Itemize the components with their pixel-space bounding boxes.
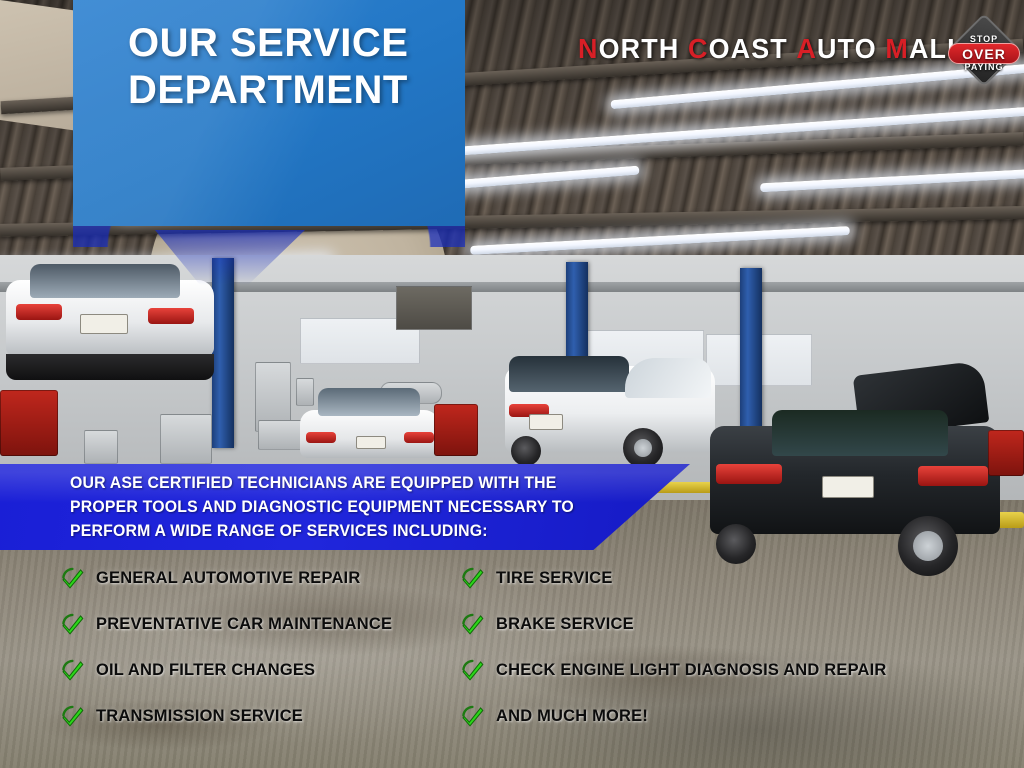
badge-middle-text: OVER: [962, 46, 1006, 62]
logo-word-3: AUTO: [796, 33, 876, 64]
car-dark-sedan: [706, 368, 1018, 578]
badge-bottom-text: PAYING: [946, 62, 1022, 72]
list-item[interactable]: OIL AND FILTER CHANGES: [60, 647, 470, 693]
car-white-sedan: [300, 388, 440, 464]
stop-over-paying-badge[interactable]: STOP OVER PAYING: [946, 24, 1022, 80]
tool-cabinet: [0, 390, 58, 456]
list-item[interactable]: BRAKE SERVICE: [460, 601, 1020, 647]
brand-logo-text: NORTH COAST AUTO MALL: [578, 35, 965, 63]
tool-cabinet: [988, 430, 1024, 476]
wall-cabinet: [258, 420, 302, 450]
services-column-right: TIRE SERVICE BRAKE SERVICE CHECK ENGINE …: [460, 555, 1020, 739]
list-item-label: OIL AND FILTER CHANGES: [96, 660, 315, 680]
list-item[interactable]: CHECK ENGINE LIGHT DIAGNOSIS AND REPAIR: [460, 647, 1020, 693]
green-check-icon: [460, 658, 484, 682]
service-department-banner: OUR SERVICE DEPARTMENT NORTH COAST AUTO …: [0, 0, 1024, 768]
list-item-label: TIRE SERVICE: [496, 568, 613, 588]
wall-vent: [396, 286, 472, 330]
car-white-suv: [505, 350, 730, 476]
logo-word-2: COAST: [688, 33, 788, 64]
list-item[interactable]: GENERAL AUTOMOTIVE REPAIR: [60, 555, 470, 601]
list-item-label: PREVENTATIVE CAR MAINTENANCE: [96, 614, 392, 634]
list-item[interactable]: PREVENTATIVE CAR MAINTENANCE: [60, 601, 470, 647]
page-title-line-2: DEPARTMENT: [128, 67, 458, 114]
page-title-line-1: OUR SERVICE: [128, 20, 458, 67]
green-check-icon: [460, 566, 484, 590]
tool-cabinet: [434, 404, 478, 456]
parts-bin: [160, 414, 212, 464]
green-check-icon: [60, 658, 84, 682]
brand-logo[interactable]: NORTH COAST AUTO MALL: [570, 28, 973, 70]
list-item[interactable]: AND MUCH MORE!: [460, 693, 1020, 739]
green-check-icon: [460, 612, 484, 636]
parts-bin: [84, 430, 118, 464]
badge-oval-shape: OVER: [948, 43, 1020, 64]
list-item-label: TRANSMISSION SERVICE: [96, 706, 303, 726]
page-title: OUR SERVICE DEPARTMENT: [128, 20, 458, 114]
green-check-icon: [60, 612, 84, 636]
services-column-left: GENERAL AUTOMOTIVE REPAIR PREVENTATIVE C…: [60, 555, 470, 739]
green-check-icon: [460, 704, 484, 728]
green-check-icon: [60, 566, 84, 590]
list-item-label: BRAKE SERVICE: [496, 614, 634, 634]
logo-word-1: NORTH: [578, 33, 679, 64]
list-item-label: CHECK ENGINE LIGHT DIAGNOSIS AND REPAIR: [496, 660, 887, 680]
car-white-sedan-lifted: [0, 262, 220, 382]
green-check-icon: [60, 704, 84, 728]
list-item[interactable]: TRANSMISSION SERVICE: [60, 693, 470, 739]
list-item-label: AND MUCH MORE!: [496, 706, 648, 726]
list-item[interactable]: TIRE SERVICE: [460, 555, 1020, 601]
services-list: GENERAL AUTOMOTIVE REPAIR PREVENTATIVE C…: [0, 555, 1024, 745]
info-banner-text: OUR ASE CERTIFIED TECHNICIANS ARE EQUIPP…: [70, 472, 593, 544]
list-item-label: GENERAL AUTOMOTIVE REPAIR: [96, 568, 360, 588]
